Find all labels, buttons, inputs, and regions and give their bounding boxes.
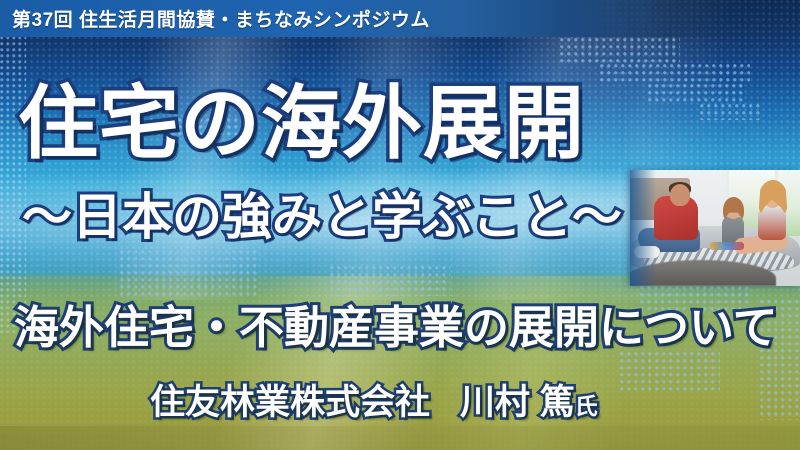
photo-left-fade xyxy=(630,170,656,286)
session-heading: 海外住宅・不動産事業の展開について xyxy=(14,305,778,350)
speaker-line: 住友林業株式会社 川村 篤 氏 xyxy=(150,385,598,420)
event-header-bar: 第37回 住生活月間協賛・まちなみシンポジウム xyxy=(0,0,800,37)
photo-man-head xyxy=(670,184,690,206)
speaker-name: 川村 篤 xyxy=(460,385,575,420)
speaker-company: 住友林業株式会社 xyxy=(150,385,430,420)
photo-woman-body xyxy=(758,206,786,240)
event-label: 第37回 住生活月間協賛・まちなみシンポジウム xyxy=(0,5,430,32)
page-title: 住宅の海外展開 xyxy=(18,84,585,164)
speaker-suffix: 氏 xyxy=(575,395,598,418)
page-subtitle: 〜日本の強みと学ぶこと〜 xyxy=(22,192,622,242)
photo-toys xyxy=(710,242,744,250)
symposium-title-slide: 第37回 住生活月間協賛・まちなみシンポジウム 住宅の海外展開 〜日本の強みと学… xyxy=(0,0,800,450)
bottom-strip xyxy=(0,426,800,450)
